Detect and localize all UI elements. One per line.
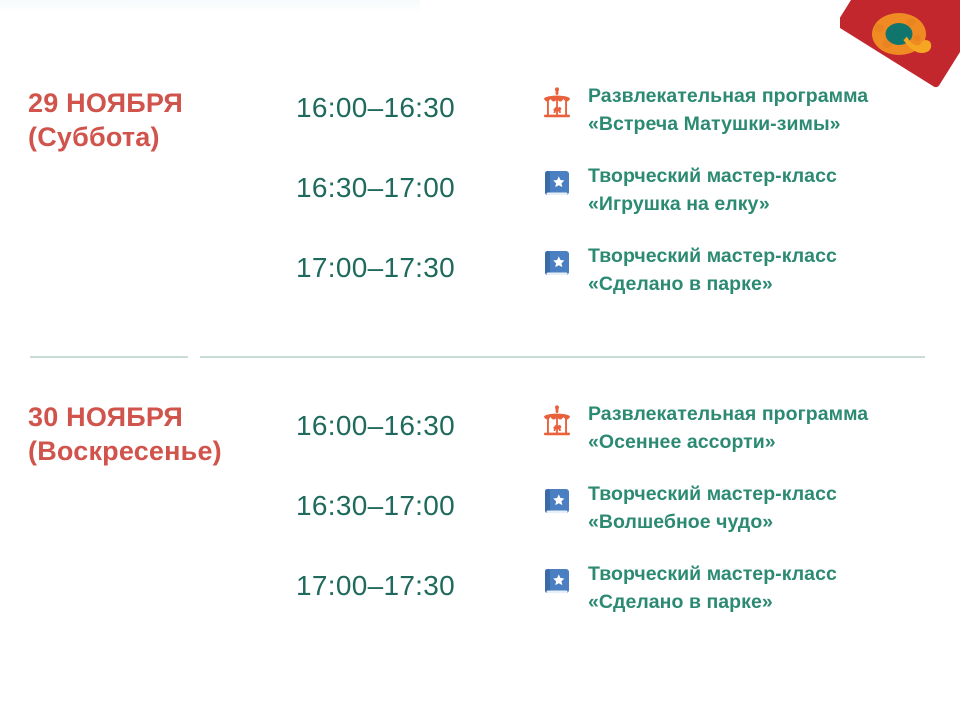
event-title: Творческий мастер-класс: [588, 560, 948, 588]
carousel-icon: [539, 86, 575, 122]
event-title: Творческий мастер-класс: [588, 480, 948, 508]
event-description: Творческий мастер-класс «Сделано в парке…: [588, 560, 948, 617]
event-subtitle: «Игрушка на елку»: [588, 190, 948, 218]
section-divider-left: [30, 356, 188, 358]
event-title: Развлекательная программа: [588, 82, 948, 110]
event-subtitle: «Сделано в парке»: [588, 270, 948, 298]
schedule-row[interactable]: 16:30–17:00 Творческий мастер-класс «Вол…: [0, 472, 960, 552]
event-title: Творческий мастер-класс: [588, 162, 948, 190]
event-subtitle: «Осеннее ассорти»: [588, 428, 948, 456]
event-description: Творческий мастер-класс «Волшебное чудо»: [588, 480, 948, 537]
book-star-icon: [539, 564, 575, 600]
event-title: Творческий мастер-класс: [588, 242, 948, 270]
book-star-icon: [539, 166, 575, 202]
schedule-poster: 29 НОЯБРЯ (Суббота) 16:00–16:30: [0, 0, 960, 720]
event-subtitle: «Встреча Матушки-зимы»: [588, 110, 948, 138]
top-faint-strip: [0, 0, 420, 13]
event-description: Развлекательная программа «Встреча Матуш…: [588, 82, 948, 139]
carousel-icon: [539, 404, 575, 440]
event-title: Развлекательная программа: [588, 400, 948, 428]
schedule-row[interactable]: 16:00–16:30 Развлекательная программа «О…: [0, 392, 960, 472]
event-time: 17:00–17:30: [296, 570, 455, 602]
book-star-icon: [539, 246, 575, 282]
event-time: 16:30–17:00: [296, 172, 455, 204]
event-subtitle: «Сделано в парке»: [588, 588, 948, 616]
event-subtitle: «Волшебное чудо»: [588, 508, 948, 536]
event-time: 16:00–16:30: [296, 92, 455, 124]
event-time: 16:00–16:30: [296, 410, 455, 442]
event-time: 17:00–17:30: [296, 252, 455, 284]
schedule-row[interactable]: 17:00–17:30 Творческий мастер-класс «Сде…: [0, 238, 960, 318]
schedule-row[interactable]: 16:00–16:30 Развлекательная программа «В…: [0, 78, 960, 158]
event-description: Творческий мастер-класс «Сделано в парке…: [588, 242, 948, 299]
section-divider-right: [200, 356, 925, 358]
book-star-icon: [539, 484, 575, 520]
event-description: Развлекательная программа «Осеннее ассор…: [588, 400, 948, 457]
event-description: Творческий мастер-класс «Игрушка на елку…: [588, 162, 948, 219]
schedule-row[interactable]: 16:30–17:00 Творческий мастер-класс «Игр…: [0, 158, 960, 238]
park-logo: [865, 8, 937, 70]
schedule-row[interactable]: 17:00–17:30 Творческий мастер-класс «Сде…: [0, 552, 960, 632]
event-time: 16:30–17:00: [296, 490, 455, 522]
